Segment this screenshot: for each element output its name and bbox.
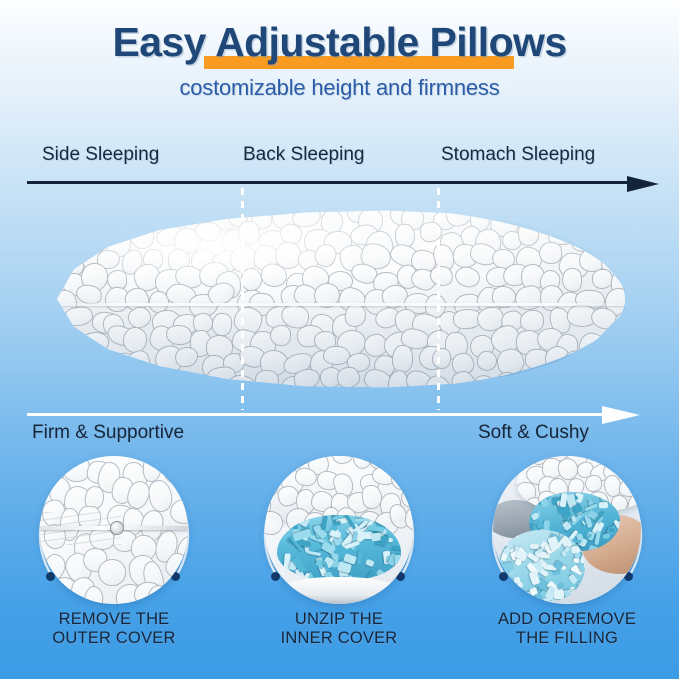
bottom-arrow-line (27, 413, 617, 416)
caption-line-2: OUTER COVER (9, 629, 219, 648)
title-wrap: Easy Adjustable Pillows (112, 22, 566, 63)
page-title: Easy Adjustable Pillows (112, 22, 566, 63)
divider-side-back (241, 188, 244, 410)
label-firm-supportive: Firm & Supportive (32, 422, 184, 444)
step-remove-outer-cover: REMOVE THE OUTER COVER (9, 452, 219, 679)
firmness-labels: Firm & Supportive Soft & Cushy (0, 422, 679, 450)
photo-outer-cover (40, 456, 188, 604)
sleep-position-labels: Side Sleeping Back Sleeping Stomach Slee… (0, 144, 679, 170)
caption-line-2: INNER COVER (234, 629, 444, 648)
step-unzip-inner-cover: UNZIP THE INNER COVER (234, 452, 444, 679)
caption-line-1: ADD ORREMOVE (462, 610, 672, 629)
page-subtitle: costomizable height and firmness (0, 75, 679, 101)
pillow-image (57, 206, 625, 392)
bottom-arrow-icon (27, 407, 667, 423)
pillow-shading (57, 206, 625, 392)
photo-inner-cover (265, 456, 413, 604)
photo-filling (493, 456, 641, 604)
top-arrow-line (27, 181, 635, 184)
steps-row: REMOVE THE OUTER COVER (0, 452, 679, 679)
caption-line-2: THE FILLING (462, 629, 672, 648)
divider-back-stomach (437, 188, 440, 410)
infographic-poster: Easy Adjustable Pillows costomizable hei… (0, 0, 679, 679)
label-soft-cushy: Soft & Cushy (478, 422, 589, 444)
label-stomach-sleeping: Stomach Sleeping (441, 144, 595, 166)
caption-line-1: UNZIP THE (234, 610, 444, 629)
label-back-sleeping: Back Sleeping (243, 144, 364, 166)
caption-step-2: UNZIP THE INNER COVER (234, 610, 444, 648)
step-add-remove-filling: ADD ORREMOVE THE FILLING (462, 452, 672, 679)
caption-line-1: REMOVE THE (9, 610, 219, 629)
pillow-stage (0, 188, 679, 410)
caption-step-1: REMOVE THE OUTER COVER (9, 610, 219, 648)
caption-step-3: ADD ORREMOVE THE FILLING (462, 610, 672, 648)
header: Easy Adjustable Pillows costomizable hei… (0, 0, 679, 101)
label-side-sleeping: Side Sleeping (42, 144, 159, 166)
